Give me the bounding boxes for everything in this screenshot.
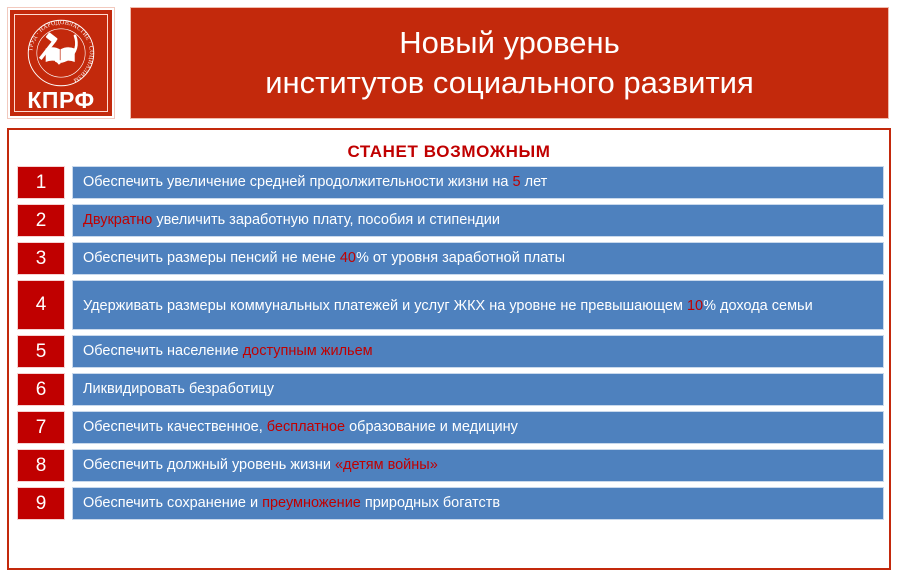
highlighted-text: бесплатное (267, 419, 345, 435)
plain-text: Обеспечить сохранение и (83, 495, 262, 511)
list-item: 5Обеспечить население доступным жильем (18, 336, 883, 367)
list-item: 7Обеспечить качественное, бесплатное обр… (18, 412, 883, 443)
list-item-text: Обеспечить увеличение средней продолжите… (73, 167, 883, 198)
plain-text: Обеспечить размеры пенсий не мене (83, 250, 340, 266)
highlighted-text: 40 (340, 250, 356, 266)
list-item: 2Двукратно увеличить заработную плату, п… (18, 205, 883, 236)
list-item: 4Удерживать размеры коммунальных платеже… (18, 281, 883, 329)
highlighted-text: 10 (687, 298, 703, 314)
plain-text: Ликвидировать безработицу (83, 381, 274, 397)
slide-header: РОССИЯ · ТРУД · НАРОДОВЛАСТИЕ · СОЦИАЛИЗ… (0, 0, 900, 122)
plain-text: Удерживать размеры коммунальных платежей… (83, 298, 687, 314)
list-item-text: Обеспечить размеры пенсий не мене 40% от… (73, 243, 883, 274)
panel-heading: СТАНЕТ ВОЗМОЖНЫМ (9, 130, 889, 167)
plain-text: увеличить заработную плату, пособия и ст… (152, 212, 500, 228)
plain-text: % от уровня заработной платы (356, 250, 565, 266)
list-item-number: 6 (18, 374, 64, 405)
list-item-text: Обеспечить сохранение и преумножение при… (73, 488, 883, 519)
plain-text: Обеспечить увеличение средней продолжите… (83, 174, 513, 190)
list-item: 6Ликвидировать безработицу (18, 374, 883, 405)
list-item: 9Обеспечить сохранение и преумножение пр… (18, 488, 883, 519)
list-item-number: 3 (18, 243, 64, 274)
list-item: 8Обеспечить должный уровень жизни «детям… (18, 450, 883, 481)
list-item: 3Обеспечить размеры пенсий не мене 40% о… (18, 243, 883, 274)
list-item-text: Обеспечить должный уровень жизни «детям … (73, 450, 883, 481)
list-item-number: 2 (18, 205, 64, 236)
list-item-text: Обеспечить качественное, бесплатное обра… (73, 412, 883, 443)
plain-text: образование и медицину (345, 419, 518, 435)
highlighted-text: доступным жильем (243, 343, 373, 359)
highlighted-text: 5 (513, 174, 521, 190)
logo-acronym: КПРФ (10, 88, 112, 112)
list-item-number: 8 (18, 450, 64, 481)
title-banner: Новый уровень институтов социального раз… (131, 8, 888, 118)
list-item-text: Двукратно увеличить заработную плату, по… (73, 205, 883, 236)
list-item: 1Обеспечить увеличение средней продолжит… (18, 167, 883, 198)
plain-text: Обеспечить должный уровень жизни (83, 457, 335, 473)
list-item-number: 7 (18, 412, 64, 443)
plain-text: % дохода семьи (703, 298, 813, 314)
promise-list: 1Обеспечить увеличение средней продолжит… (9, 167, 889, 519)
kprf-logo: РОССИЯ · ТРУД · НАРОДОВЛАСТИЕ · СОЦИАЛИЗ… (8, 8, 114, 118)
list-item-number: 4 (18, 281, 64, 329)
plain-text: лет (521, 174, 548, 190)
list-item-text: Обеспечить население доступным жильем (73, 336, 883, 367)
plain-text: Обеспечить население (83, 343, 243, 359)
plain-text: Обеспечить качественное, (83, 419, 267, 435)
kprf-emblem-icon: РОССИЯ · ТРУД · НАРОДОВЛАСТИЕ · СОЦИАЛИЗ… (22, 14, 100, 92)
list-item-number: 5 (18, 336, 64, 367)
list-item-number: 9 (18, 488, 64, 519)
highlighted-text: Двукратно (83, 212, 152, 228)
highlighted-text: «детям войны» (335, 457, 438, 473)
page-title-line2: институтов социального развития (265, 63, 754, 103)
highlighted-text: преумножение (262, 495, 361, 511)
page-title-line1: Новый уровень (399, 23, 620, 63)
list-item-text: Удерживать размеры коммунальных платежей… (73, 281, 883, 329)
plain-text: природных богатств (361, 495, 500, 511)
list-item-text: Ликвидировать безработицу (73, 374, 883, 405)
content-panel: СТАНЕТ ВОЗМОЖНЫМ 1Обеспечить увеличение … (7, 128, 891, 570)
list-item-number: 1 (18, 167, 64, 198)
